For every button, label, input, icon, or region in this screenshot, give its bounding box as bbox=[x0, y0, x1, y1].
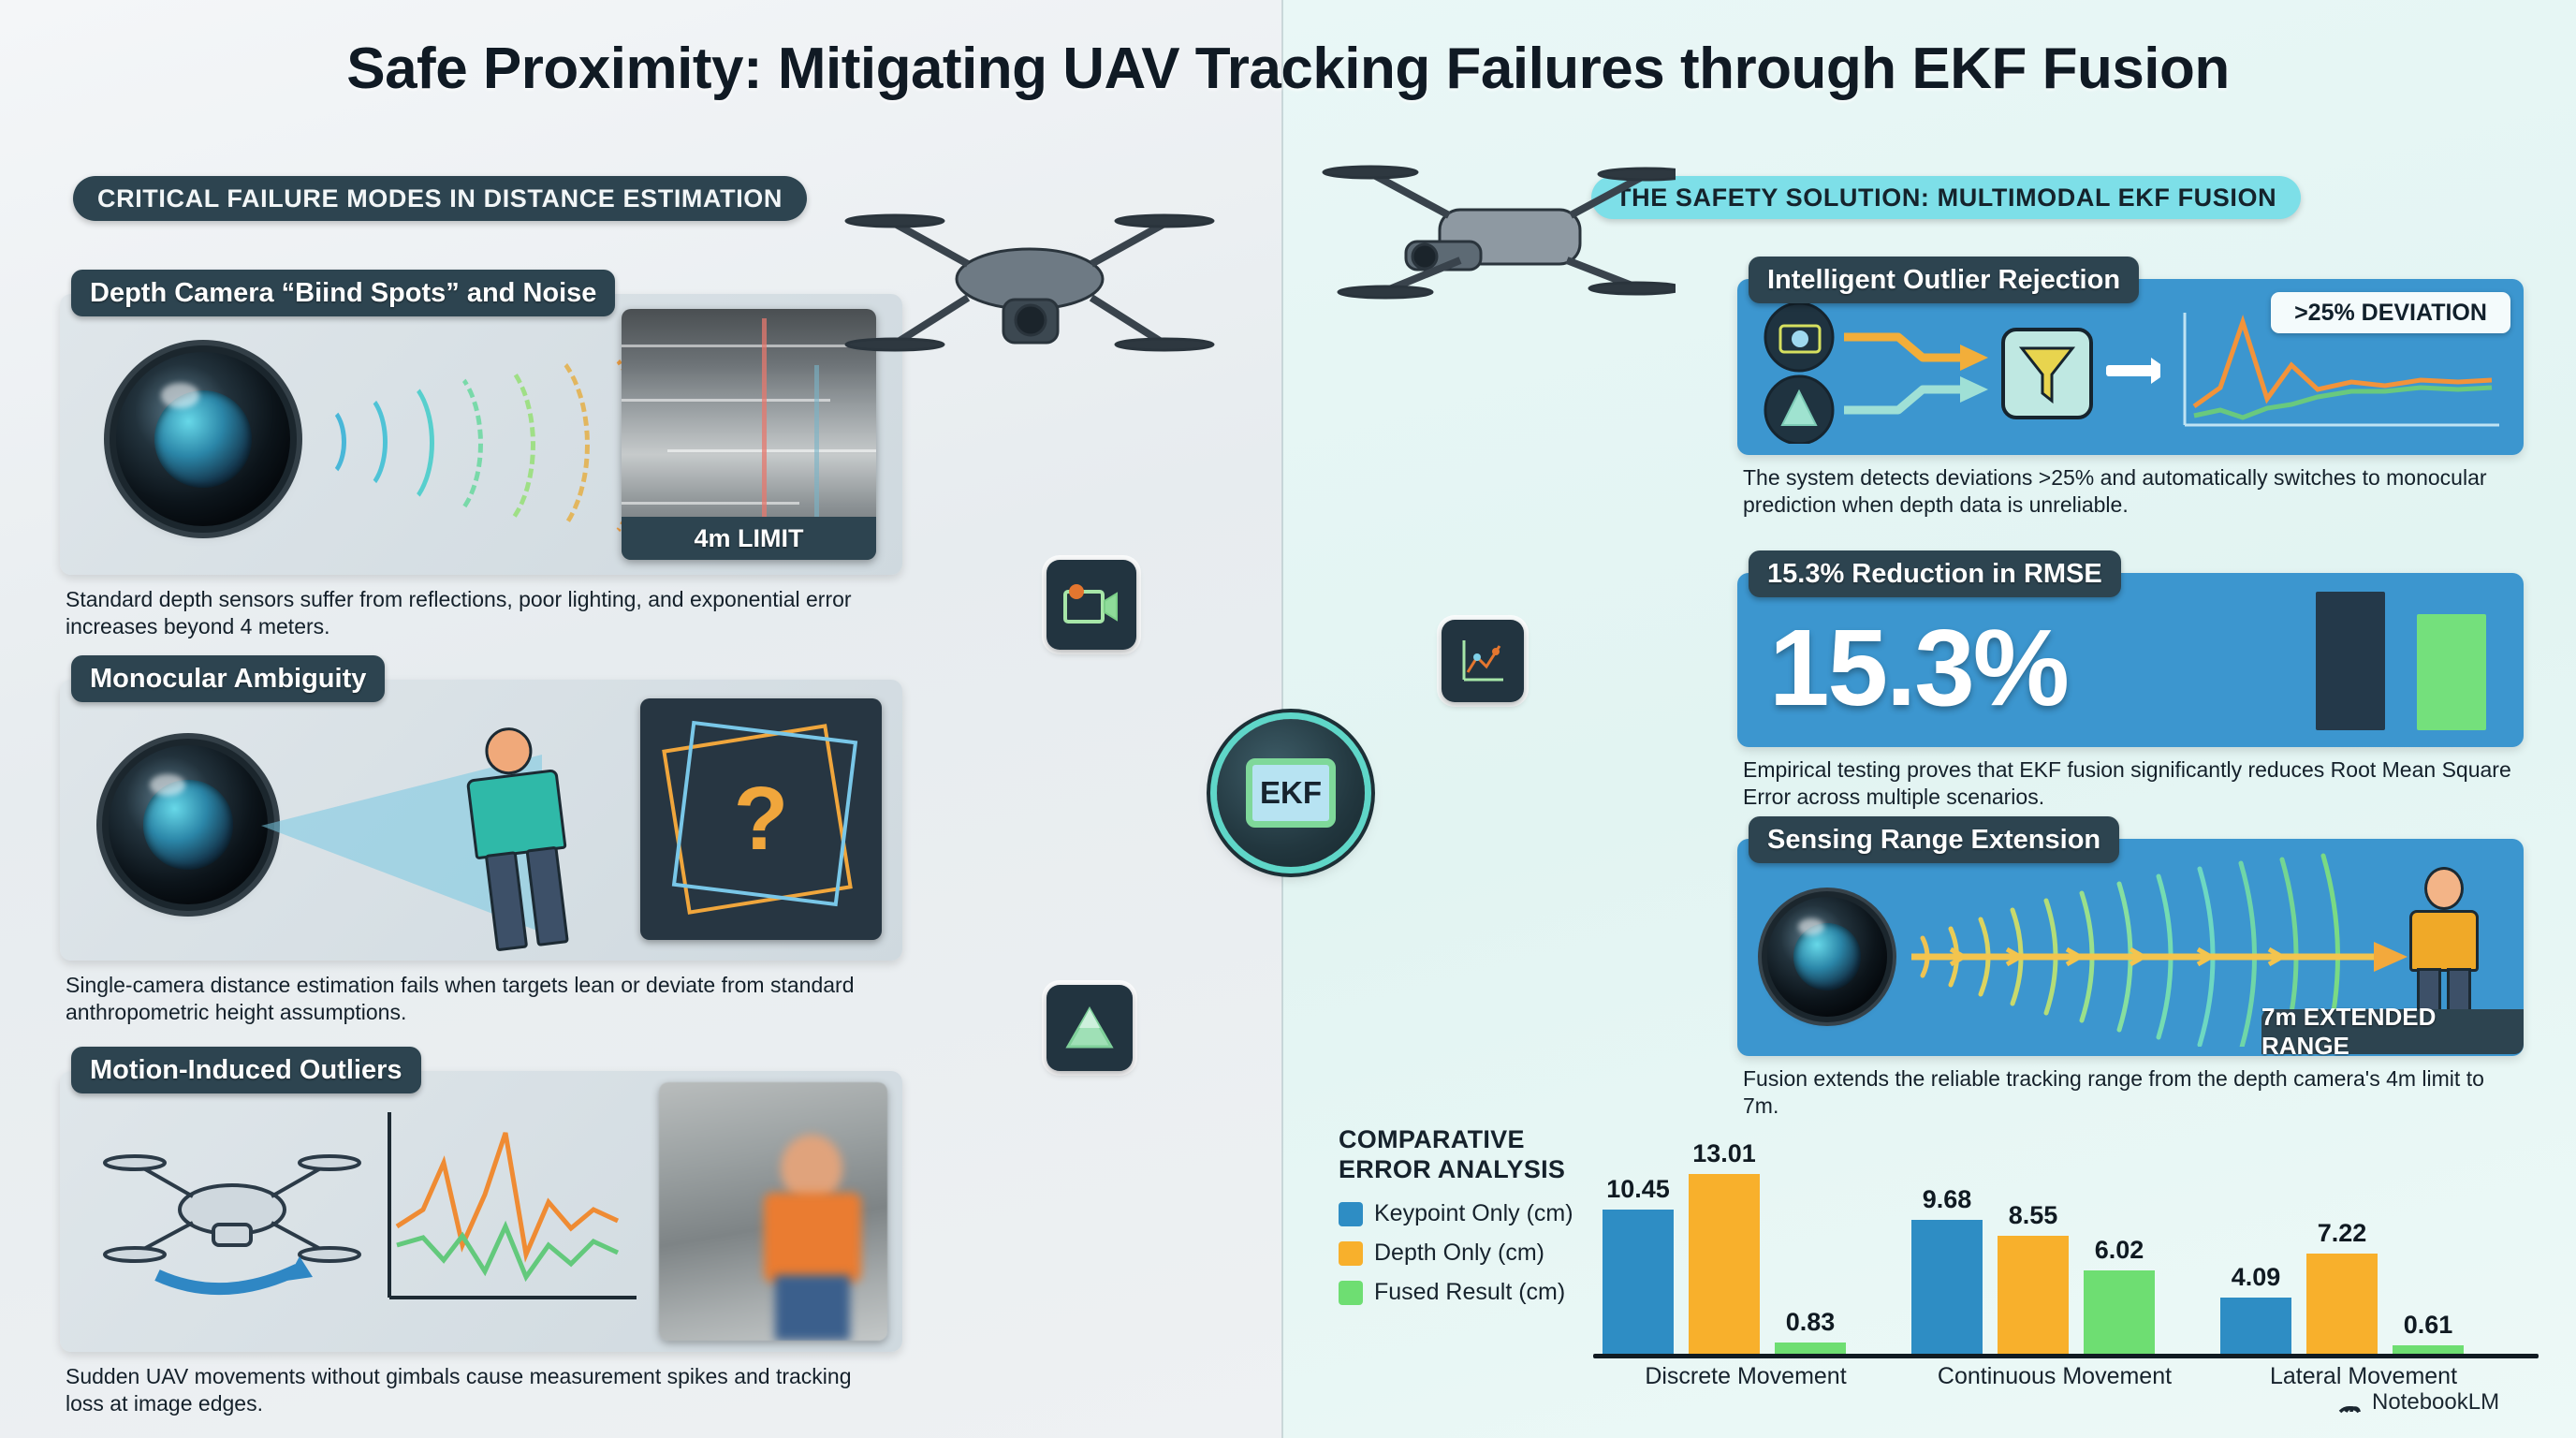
failure-card-motion: Motion-Induced Outliers Sudden UAV movem… bbox=[60, 1047, 902, 1384]
right-section-pill: THE SAFETY SOLUTION: MULTIMODAL EKF FUSI… bbox=[1591, 176, 2301, 219]
chart-baseline-axis bbox=[1593, 1354, 2539, 1358]
chart-bar-value-label: 9.68 bbox=[1898, 1185, 1996, 1214]
solution-card-range-caption: Fusion extends the reliable tracking ran… bbox=[1743, 1065, 2520, 1121]
infographic-canvas: Safe Proximity: Mitigating UAV Tracking … bbox=[0, 0, 2576, 1438]
outlier-rejection-illustration: >25% DEVIATION bbox=[1737, 279, 2524, 455]
notebooklm-footer: NotebookLM bbox=[2336, 1389, 2499, 1416]
chart-bar-value-label: 6.02 bbox=[2071, 1236, 2168, 1265]
chart-bar-value-label: 4.09 bbox=[2207, 1263, 2305, 1292]
ekf-processor-badge: EKF bbox=[1217, 719, 1365, 867]
camera-lens-icon bbox=[1767, 897, 1887, 1017]
chart-title: COMPARATIVE ERROR ANALYSIS bbox=[1339, 1125, 1619, 1185]
depth-camera-illustration: 4m LIMIT bbox=[60, 294, 902, 575]
chart-bar bbox=[2306, 1254, 2378, 1354]
chart-bar-value-label: 0.83 bbox=[1762, 1308, 1859, 1337]
solution-card-outlier-caption: The system detects deviations >25% and a… bbox=[1743, 464, 2520, 520]
failure-card-depth-heading: Depth Camera “Biind Spots” and Noise bbox=[71, 270, 615, 316]
solution-card-outlier-heading: Intelligent Outlier Rejection bbox=[1749, 257, 2139, 303]
chart-category-label: Continuous Movement bbox=[1910, 1363, 2200, 1390]
chart-bar-value-label: 7.22 bbox=[2293, 1219, 2391, 1248]
failure-card-motion-heading: Motion-Induced Outliers bbox=[71, 1047, 421, 1093]
camera-lens-icon bbox=[116, 352, 290, 526]
depth-wave-arcs bbox=[294, 335, 668, 550]
notebooklm-logo-icon bbox=[2336, 1389, 2363, 1416]
failure-card-depth-caption: Standard depth sensors suffer from refle… bbox=[66, 586, 889, 641]
monocular-illustration: ? bbox=[60, 680, 902, 961]
chart-category-label: Discrete Movement bbox=[1601, 1363, 1891, 1390]
motion-outlier-illustration bbox=[60, 1071, 902, 1352]
uav-sketch-icon bbox=[92, 1120, 373, 1298]
uav-right-illustration bbox=[1320, 140, 1676, 346]
left-section-pill: CRITICAL FAILURE MODES IN DISTANCE ESTIM… bbox=[73, 176, 807, 221]
motion-blur-photo bbox=[659, 1082, 887, 1341]
notebooklm-label: NotebookLM bbox=[2372, 1389, 2499, 1416]
legend-swatch-depth bbox=[1339, 1241, 1363, 1266]
chart-bar-value-label: 13.01 bbox=[1676, 1139, 1773, 1168]
chart-plot-area: 10.4513.010.839.688.556.024.097.220.61 bbox=[1593, 1129, 2539, 1354]
scatter-plot-icon bbox=[1442, 620, 1524, 702]
legend-item-depth: Depth Only (cm) bbox=[1339, 1240, 1544, 1267]
leaning-person-figure bbox=[421, 716, 625, 961]
depth-limit-badge: 4m LIMIT bbox=[622, 517, 876, 560]
page-title: Safe Proximity: Mitigating UAV Tracking … bbox=[0, 36, 2576, 102]
chart-bar bbox=[2220, 1298, 2291, 1354]
error-spike-plot bbox=[369, 1105, 650, 1320]
chart-bar bbox=[2084, 1270, 2155, 1354]
solution-card-rmse-caption: Empirical testing proves that EKF fusion… bbox=[1743, 756, 2520, 812]
failure-card-depth-camera: 4m LIMIT Depth Camera “Biind Spots” and … bbox=[60, 270, 902, 607]
legend-swatch-fused bbox=[1339, 1281, 1363, 1305]
ekf-chip-label: EKF bbox=[1246, 758, 1336, 828]
comparative-error-chart: COMPARATIVE ERROR ANALYSIS Keypoint Only… bbox=[1329, 1114, 2546, 1386]
mountain-peak-icon bbox=[1046, 985, 1133, 1071]
failure-card-motion-caption: Sudden UAV movements without gimbals cau… bbox=[66, 1363, 889, 1418]
pipeline-diagram bbox=[1758, 303, 2160, 444]
chart-bar bbox=[1998, 1236, 2069, 1354]
chart-bar-value-label: 8.55 bbox=[1984, 1201, 2082, 1230]
camera-video-icon bbox=[1046, 560, 1136, 650]
camera-lens-icon bbox=[109, 745, 268, 904]
chart-bar bbox=[1775, 1343, 1846, 1354]
solution-card-rmse: 15.3% 15.3% Reduction in RMSE Empirical … bbox=[1737, 550, 2524, 822]
question-mark-icon: ? bbox=[640, 698, 882, 940]
chart-bar bbox=[1689, 1174, 1760, 1354]
extended-range-badge: 7m EXTENDED RANGE bbox=[2261, 1009, 2524, 1054]
ambiguity-question-box: ? bbox=[640, 698, 882, 940]
legend-label-depth: Depth Only (cm) bbox=[1374, 1240, 1544, 1267]
legend-label-fused: Fused Result (cm) bbox=[1374, 1279, 1565, 1306]
chart-bar bbox=[1911, 1220, 1983, 1354]
range-extension-illustration: 7m EXTENDED RANGE bbox=[1737, 839, 2524, 1056]
legend-item-fused: Fused Result (cm) bbox=[1339, 1279, 1565, 1306]
legend-label-keypoint: Keypoint Only (cm) bbox=[1374, 1200, 1573, 1227]
rmse-big-value: 15.3% bbox=[1769, 605, 2068, 730]
legend-item-keypoint: Keypoint Only (cm) bbox=[1339, 1200, 1573, 1227]
failure-card-monocular: ? Monocular Ambiguity Single-camera dist… bbox=[60, 655, 902, 992]
solution-card-outlier: >25% DEVIATION Intelligent Outlier Rejec… bbox=[1737, 257, 2524, 528]
solution-card-range-heading: Sensing Range Extension bbox=[1749, 816, 2119, 863]
rmse-bar-after bbox=[2417, 614, 2486, 730]
uav-left-illustration bbox=[842, 159, 1217, 403]
chart-bar bbox=[1603, 1210, 1674, 1354]
chart-title-line1: COMPARATIVE bbox=[1339, 1125, 1525, 1153]
legend-swatch-keypoint bbox=[1339, 1202, 1363, 1226]
rmse-bar-before bbox=[2316, 592, 2385, 730]
failure-card-monocular-caption: Single-camera distance estimation fails … bbox=[66, 972, 889, 1027]
chart-title-line2: ERROR ANALYSIS bbox=[1339, 1155, 1565, 1183]
failure-card-monocular-heading: Monocular Ambiguity bbox=[71, 655, 385, 702]
chart-bar-value-label: 0.61 bbox=[2379, 1311, 2477, 1340]
solution-card-range: 7m EXTENDED RANGE Sensing Range Extensio… bbox=[1737, 816, 2524, 1097]
solution-card-rmse-heading: 15.3% Reduction in RMSE bbox=[1749, 550, 2121, 597]
deviation-badge: >25% DEVIATION bbox=[2271, 292, 2510, 333]
rmse-illustration: 15.3% bbox=[1737, 573, 2524, 747]
chart-category-label: Lateral Movement bbox=[2218, 1363, 2509, 1390]
chart-bar-value-label: 10.45 bbox=[1589, 1175, 1687, 1204]
chart-bar bbox=[2393, 1345, 2464, 1354]
